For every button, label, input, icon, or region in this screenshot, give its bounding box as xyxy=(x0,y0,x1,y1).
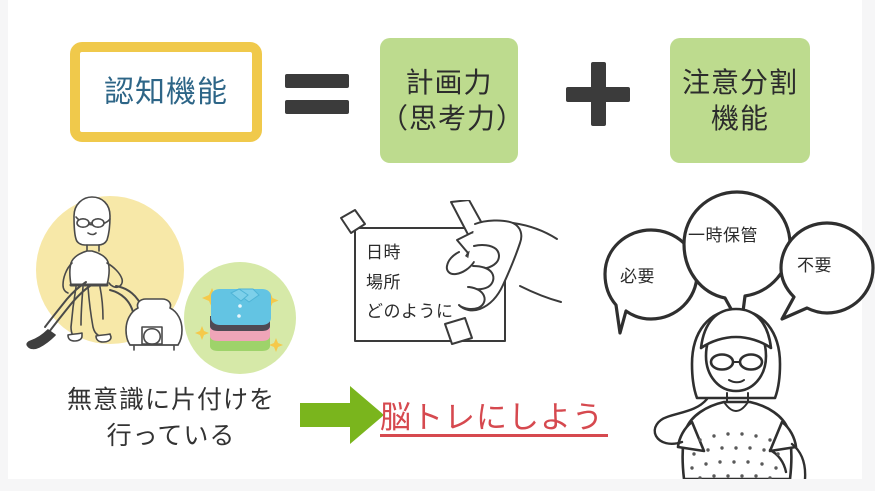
equals-sign-icon xyxy=(285,74,349,114)
note-line-2: 場所 xyxy=(366,268,401,293)
right-arrow-green-icon xyxy=(300,386,384,444)
planning-ability-label-line1: 計画力 xyxy=(405,65,492,101)
folded-shirt-illustration xyxy=(184,262,296,374)
bubble-label-necessary: 必要 xyxy=(620,262,655,287)
cognitive-function-label: 認知機能 xyxy=(104,76,228,109)
brain-training-underline xyxy=(380,434,608,437)
woman-vacuuming-illustration xyxy=(26,190,201,355)
brain-training-caption: 脳トレにしよう xyxy=(380,392,604,437)
bubble-label-temporary-storage: 一時保管 xyxy=(688,221,758,246)
note-line-1: 日時 xyxy=(366,238,401,263)
divided-attention-label-line2: 機能 xyxy=(711,101,769,137)
planning-ability-label-line2: （思考力） xyxy=(380,101,518,137)
note-line-3: どのように xyxy=(366,297,454,322)
bubble-label-unnecessary: 不要 xyxy=(797,251,832,276)
cognitive-function-box: 認知機能 xyxy=(70,42,262,142)
divided-attention-box: 注意分割 機能 xyxy=(670,38,810,163)
left-caption-line1: 無意識に片付けを xyxy=(48,382,294,418)
divided-attention-label-line1: 注意分割 xyxy=(682,65,798,101)
left-caption: 無意識に片付けを 行っている xyxy=(48,382,294,455)
plus-sign-icon xyxy=(566,62,630,126)
left-caption-line2: 行っている xyxy=(48,418,294,454)
slide-canvas: 認知機能 計画力 （思考力） 注意分割 機能 xyxy=(0,0,875,491)
planning-ability-box: 計画力 （思考力） xyxy=(380,38,518,163)
slide-page: 認知機能 計画力 （思考力） 注意分割 機能 xyxy=(8,0,862,479)
